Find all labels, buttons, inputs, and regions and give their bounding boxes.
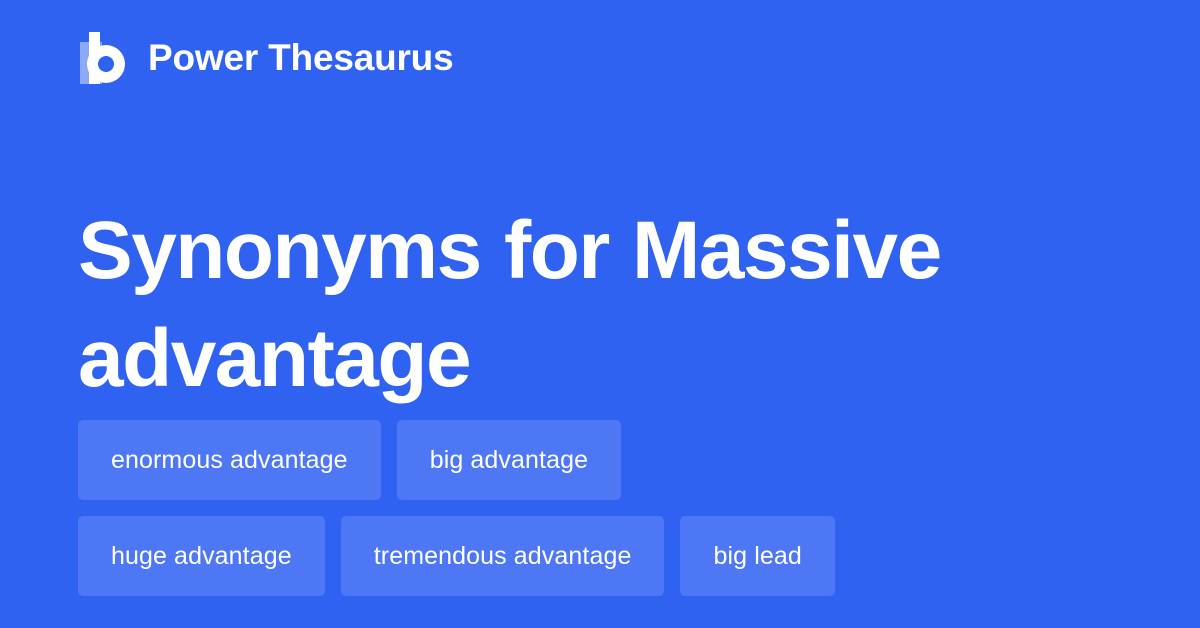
brand-name-part-1: Power <box>148 37 258 78</box>
brand-header: Power Thesaurus <box>80 28 453 88</box>
brand-name-part-2: Thesaurus <box>268 37 453 78</box>
synonym-tag-list: enormous advantage big advantage huge ad… <box>78 420 1138 596</box>
synonym-tag-row: enormous advantage big advantage <box>78 420 1138 500</box>
synonym-tag[interactable]: huge advantage <box>78 516 325 596</box>
synonym-tag[interactable]: tremendous advantage <box>341 516 665 596</box>
synonym-tag[interactable]: big advantage <box>397 420 621 500</box>
brand-name: Power Thesaurus <box>148 39 453 78</box>
synonym-tag[interactable]: enormous advantage <box>78 420 381 500</box>
power-thesaurus-logo-icon[interactable] <box>80 32 126 84</box>
synonym-tag-row: huge advantage tremendous advantage big … <box>78 516 1138 596</box>
synonym-card: Power Thesaurus Synonyms for Massive adv… <box>0 0 1200 628</box>
synonym-tag[interactable]: big lead <box>680 516 834 596</box>
page-title: Synonyms for Massive advantage <box>78 197 1078 413</box>
